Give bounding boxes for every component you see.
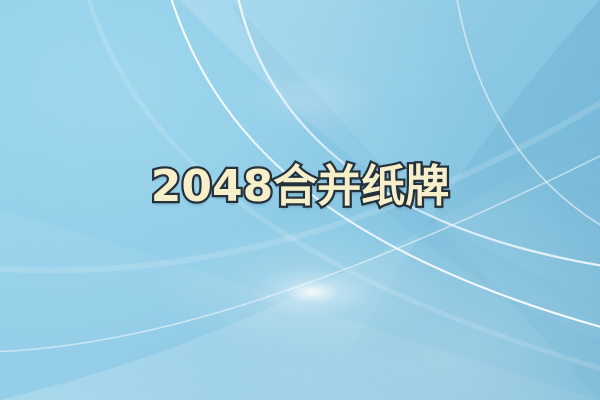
game-title-screen: 2048合并纸牌 [0,0,600,400]
game-title: 2048合并纸牌 [151,165,449,209]
title-container: 2048合并纸牌 [0,0,600,400]
